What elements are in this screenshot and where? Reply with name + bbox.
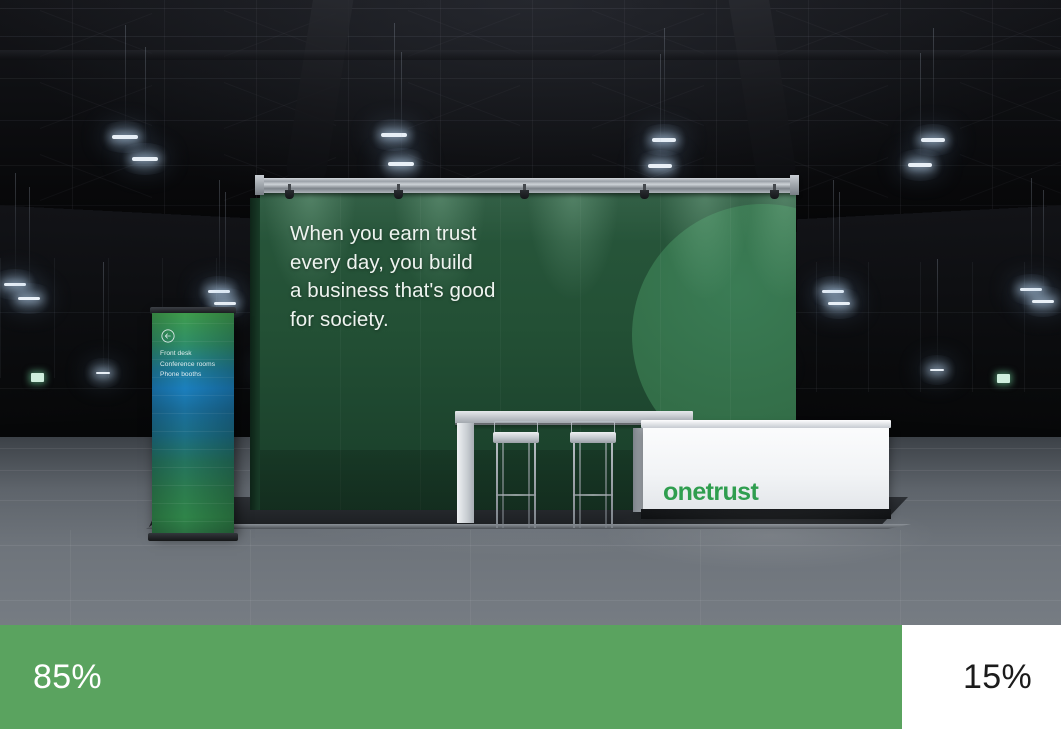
bar-label-15: 15% (963, 658, 1032, 697)
headline-line-2: every day, you build (290, 249, 550, 278)
kiosk-item-phone-booths: Phone booths (160, 370, 234, 381)
booth-render-image: When you earn trust every day, you build… (0, 0, 1061, 625)
bar-segment-minority: 15% (902, 625, 1061, 729)
exit-sign-icon-left (31, 373, 44, 382)
kiosk-item-front-desk: Front desk (160, 349, 234, 360)
kiosk-base-foot (148, 533, 238, 541)
booth-headline: When you earn trust every day, you build… (290, 220, 550, 334)
headline-line-3: a business that's good (290, 277, 550, 306)
reception-desk-top (641, 420, 891, 428)
exit-sign-icon-right (997, 374, 1010, 383)
bar-segment-majority: 85% (0, 625, 902, 729)
wayfinding-kiosk-banner (152, 313, 234, 535)
kiosk-item-conference-rooms: Conference rooms (160, 360, 234, 371)
kiosk-wayfinding-list: Front desk Conference rooms Phone booths (160, 349, 234, 381)
bar-label-85: 85% (33, 658, 102, 697)
percentage-split-bar: 85% 15% (0, 625, 1061, 729)
circle-arrow-left-icon (160, 328, 176, 344)
headline-line-1: When you earn trust (290, 220, 550, 249)
desk-floor-reflection (600, 500, 940, 570)
headline-line-4: for society. (290, 306, 550, 335)
screenshot-root: When you earn trust every day, you build… (0, 0, 1061, 729)
booth-counter-leg (457, 423, 474, 523)
